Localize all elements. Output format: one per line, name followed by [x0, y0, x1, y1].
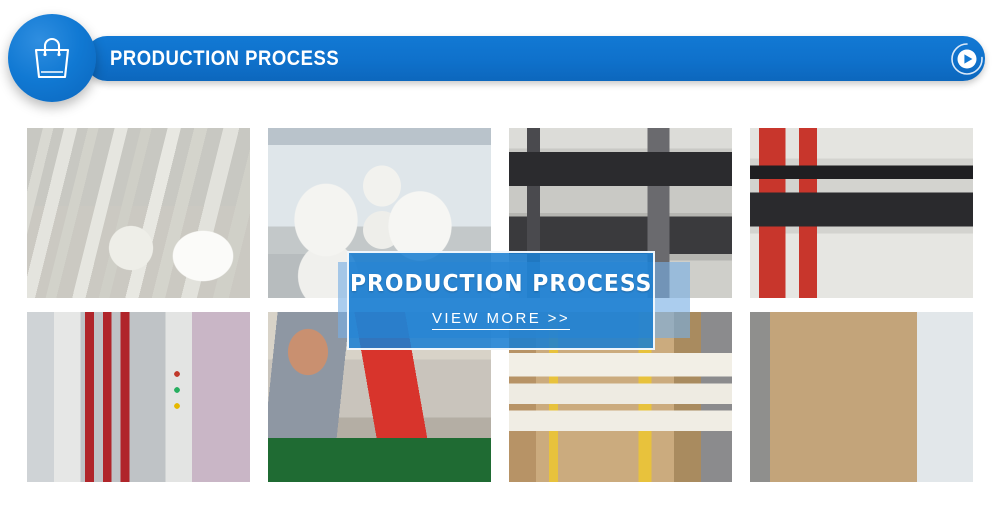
gallery-tile-4[interactable]	[750, 128, 973, 298]
page-title: PRODUCTION PROCESS	[110, 44, 726, 74]
photo-stacked-cartons	[750, 312, 973, 482]
shopping-bag-icon	[30, 35, 74, 81]
play-circle-icon[interactable]	[950, 42, 984, 76]
gallery-tile-8[interactable]	[750, 312, 973, 482]
overlay-title: PRODUCTION PROCESS	[350, 271, 653, 297]
gallery-tile-1[interactable]	[27, 128, 250, 298]
photo-control-panel-machine	[27, 312, 250, 482]
gallery-tile-5[interactable]	[27, 312, 250, 482]
view-more-link[interactable]: VIEW MORE >>	[432, 310, 570, 330]
overlay-panel[interactable]: PRODUCTION PROCESS VIEW MORE >>	[347, 251, 655, 350]
section-header: PRODUCTION PROCESS	[0, 0, 1000, 118]
photo-bag-machine	[750, 128, 973, 298]
header-badge	[8, 14, 96, 102]
photo-paper-rolls	[27, 128, 250, 298]
